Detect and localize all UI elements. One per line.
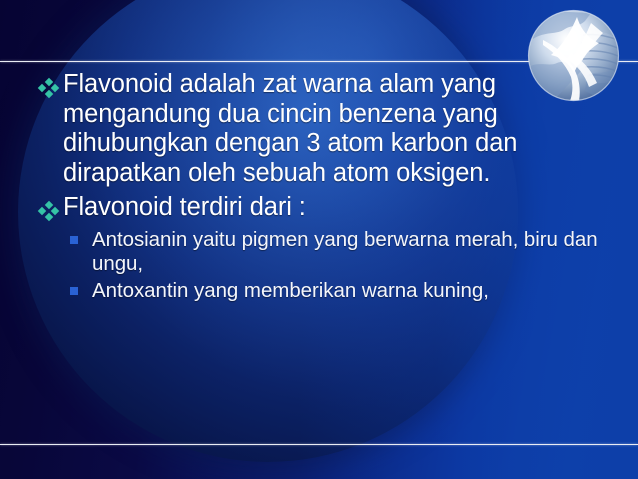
divider-line-bottom bbox=[0, 444, 638, 445]
slide-body: Flavonoid adalah zat warna alam yang men… bbox=[0, 70, 638, 303]
square-bullet-icon bbox=[70, 287, 78, 295]
diamond-bullet-icon bbox=[38, 202, 60, 220]
square-bullet-icon bbox=[70, 236, 78, 244]
bullet-text: Antoxantin yang memberikan warna kuning, bbox=[92, 279, 489, 302]
bullet-text: Antosianin yaitu pigmen yang berwarna me… bbox=[92, 228, 598, 275]
presentation-slide: Flavonoid adalah zat warna alam yang men… bbox=[0, 0, 638, 479]
bullet-level2: Antosianin yaitu pigmen yang berwarna me… bbox=[0, 228, 608, 276]
bullet-level1: Flavonoid adalah zat warna alam yang men… bbox=[0, 70, 614, 188]
bullet-level1: Flavonoid terdiri dari : bbox=[0, 193, 614, 223]
bullet-text: Flavonoid adalah zat warna alam yang men… bbox=[63, 70, 517, 187]
diamond-bullet-icon bbox=[38, 79, 60, 97]
bullet-level2: Antoxantin yang memberikan warna kuning, bbox=[0, 279, 608, 303]
bullet-text: Flavonoid terdiri dari : bbox=[63, 193, 306, 221]
